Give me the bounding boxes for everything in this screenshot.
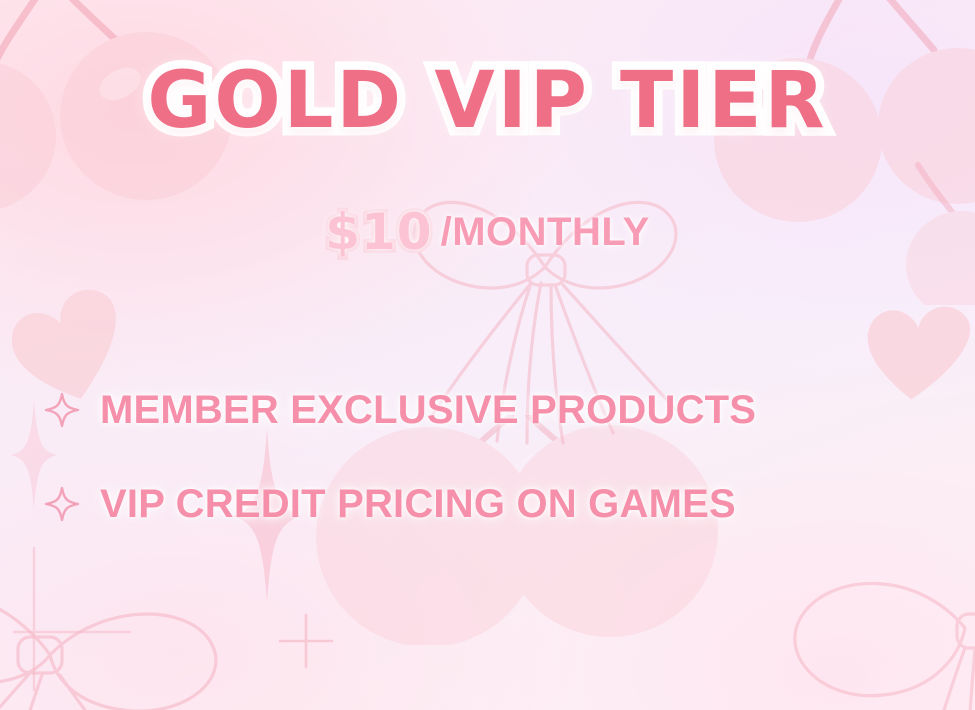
benefit-list: MEMBER EXCLUSIVE PRODUCTS VIP CREDIT PRI…	[42, 378, 932, 566]
tier-title-text: GOLD VIP TIER	[147, 62, 827, 140]
sparkle-icon	[42, 484, 82, 524]
price-period: /MONTHLY	[441, 210, 650, 254]
list-item: VIP CREDIT PRICING ON GAMES	[42, 472, 932, 536]
card-content: GOLD VIP TIER $10/MONTHLY MEMBER EXCLUSI…	[0, 0, 975, 710]
sparkle-icon	[42, 390, 82, 430]
page-title: GOLD VIP TIER	[0, 62, 975, 140]
price-row: $10/MONTHLY	[0, 203, 975, 261]
gold-vip-tier-card: GOLD VIP TIER $10/MONTHLY MEMBER EXCLUSI…	[0, 0, 975, 710]
list-item: MEMBER EXCLUSIVE PRODUCTS	[42, 378, 932, 442]
benefit-label: MEMBER EXCLUSIVE PRODUCTS	[100, 388, 756, 433]
price-amount: $10	[325, 203, 432, 261]
benefit-label: VIP CREDIT PRICING ON GAMES	[100, 482, 736, 527]
